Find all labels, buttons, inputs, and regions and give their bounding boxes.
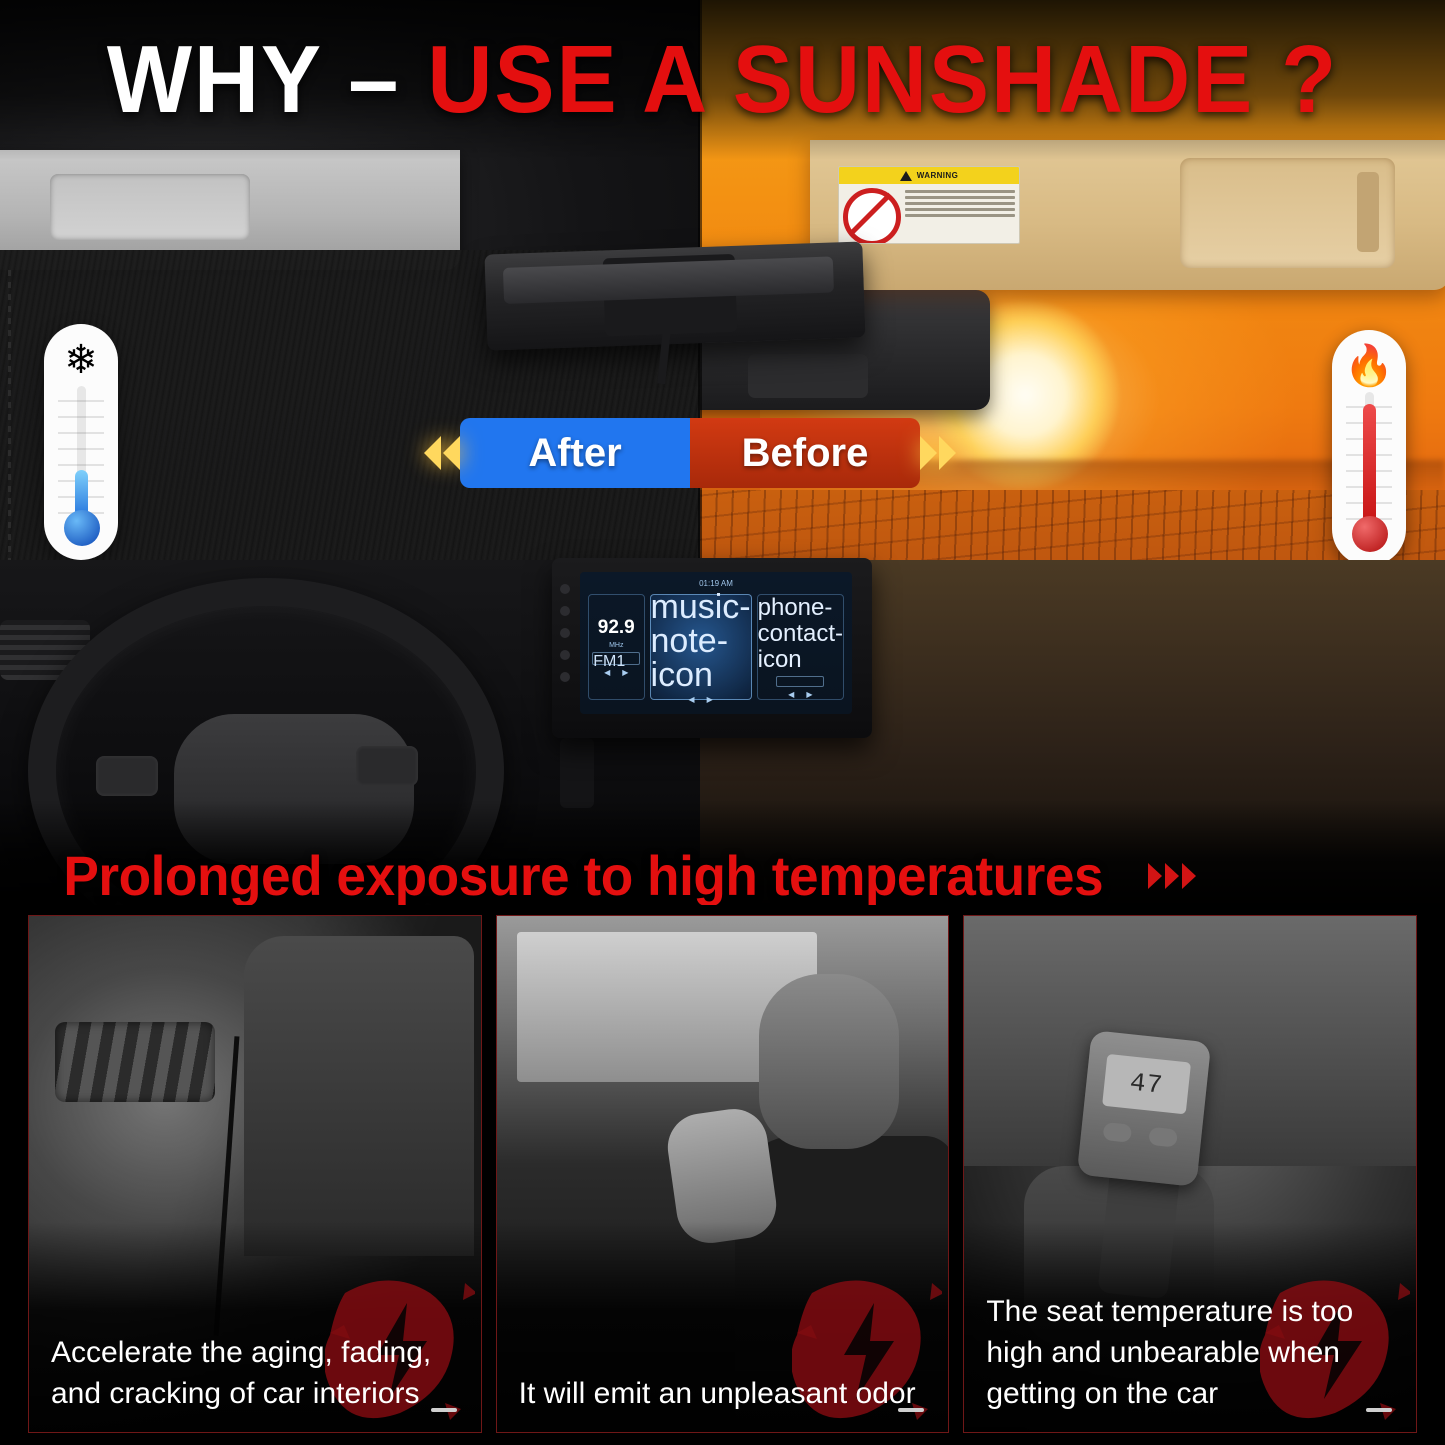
infrared-thermometer-device: 47 <box>1077 1030 1211 1187</box>
visor-vanity-mirror <box>1180 158 1395 268</box>
panel-unpleasant-odor: It will emit an unpleasant odor <box>496 915 950 1433</box>
head-unit-time: 01:19 AM <box>699 579 733 588</box>
thermometer-bulb-cold <box>64 510 100 546</box>
head-unit-side-buttons[interactable] <box>560 584 572 682</box>
sunshade-stitching <box>8 270 11 610</box>
panel-caption: The seat temperature is too high and unb… <box>986 1291 1396 1414</box>
thermometer-button-left[interactable] <box>1103 1122 1133 1143</box>
panel-interior-aging: Accelerate the aging, fading, and cracki… <box>28 915 482 1433</box>
benefit-panels: Accelerate the aging, fading, and cracki… <box>0 915 1445 1445</box>
media-next-icon[interactable]: ▶ <box>707 695 713 704</box>
media-controls[interactable]: ◀ ▶ <box>688 695 712 704</box>
warning-label-text-lines <box>905 188 1015 244</box>
product-sunshade-mirror-bar <box>484 241 865 350</box>
subheading-text: Prolonged exposure to high temperatures <box>63 843 1103 905</box>
warning-label-title: WARNING <box>917 171 958 180</box>
thermometer-bulb-hot <box>1352 516 1388 552</box>
thermometer-fill-hot <box>1363 404 1376 532</box>
panel-seat-temperature: 47 The seat temperature is too high and … <box>963 915 1417 1433</box>
person-head <box>759 974 899 1149</box>
visor-warning-label: WARNING <box>838 166 1020 244</box>
seat-back-detail <box>244 936 474 1256</box>
head-unit-mount <box>560 738 594 808</box>
dash-vent-detail <box>55 1022 215 1102</box>
sun-visor-beige: WARNING <box>810 140 1445 290</box>
flame-icon: 🔥 <box>1332 340 1406 392</box>
no-child-seat-icon <box>843 188 901 244</box>
thermometer-display: 47 <box>1102 1054 1191 1114</box>
thermometer-hot: 🔥 <box>1332 330 1406 566</box>
phone-next-icon[interactable]: ▶ <box>806 690 812 699</box>
music-note-icon: music-note-icon <box>651 590 751 692</box>
triple-chevron-right-icon <box>1148 863 1196 889</box>
warning-label-header: WARNING <box>839 167 1019 184</box>
warning-label-body <box>839 184 1019 244</box>
radio-next-icon[interactable]: ▶ <box>622 668 628 677</box>
thermometer-reading: 47 <box>1129 1067 1165 1100</box>
snowflake-icon: ❄ <box>44 334 118 386</box>
steering-button-right <box>356 746 418 786</box>
phone-prev-icon[interactable]: ◀ <box>788 690 794 699</box>
media-card[interactable]: music-note-icon ◀ ▶ <box>650 594 752 700</box>
thermometer-button-right[interactable] <box>1149 1127 1179 1148</box>
caption-underscore <box>898 1408 924 1412</box>
radio-preset[interactable]: FM1 <box>592 652 640 665</box>
headline-red: USE A SUNSHADE ? <box>427 26 1338 133</box>
double-chevron-left-icon <box>424 436 460 470</box>
head-unit-cards: 92.9 MHz FM1 ◀ ▶ music-note-icon ◀ ▶ <box>588 594 844 700</box>
radio-band: MHz <box>609 642 623 649</box>
radio-card[interactable]: 92.9 MHz FM1 ◀ ▶ <box>588 594 645 700</box>
radio-prev-icon[interactable]: ◀ <box>604 668 610 677</box>
warning-triangle-icon <box>900 171 912 181</box>
panel-caption: It will emit an unpleasant odor <box>519 1373 929 1414</box>
page-title: WHY – USE A SUNSHADE ? <box>43 30 1401 130</box>
phone-controls[interactable]: ◀ ▶ <box>788 690 812 699</box>
double-chevron-right-icon <box>920 436 956 470</box>
thermometer-cold: ❄ <box>44 324 118 560</box>
before-label: Before <box>690 418 920 488</box>
radio-controls[interactable]: ◀ ▶ <box>604 668 628 677</box>
head-unit-screen[interactable]: 01:19 AM 92.9 MHz FM1 ◀ ▶ music-note <box>580 572 852 714</box>
phone-card[interactable]: phone-contact-icon ◀ ▶ <box>757 594 844 700</box>
subheading: Prolonged exposure to high temperatures <box>36 843 1196 905</box>
product-infographic: WARNING WHY – USE A SUNSHADE ? <box>0 0 1445 1445</box>
steering-button-left <box>96 756 158 796</box>
after-before-badge: After Before <box>424 418 1024 488</box>
media-prev-icon[interactable]: ◀ <box>688 695 694 704</box>
caption-underscore <box>431 1408 457 1412</box>
caption-underscore <box>1366 1408 1392 1412</box>
after-label: After <box>460 418 690 488</box>
phone-contact-icon: phone-contact-icon <box>758 595 843 673</box>
headline-white: WHY – <box>107 26 401 133</box>
radio-frequency: 92.9 <box>598 617 635 639</box>
hero-comparison-section: WARNING WHY – USE A SUNSHADE ? <box>0 0 1445 905</box>
panel-caption: Accelerate the aging, fading, and cracki… <box>51 1332 461 1414</box>
car-head-unit: 01:19 AM 92.9 MHz FM1 ◀ ▶ music-note <box>552 558 872 738</box>
phone-field[interactable] <box>776 676 824 687</box>
